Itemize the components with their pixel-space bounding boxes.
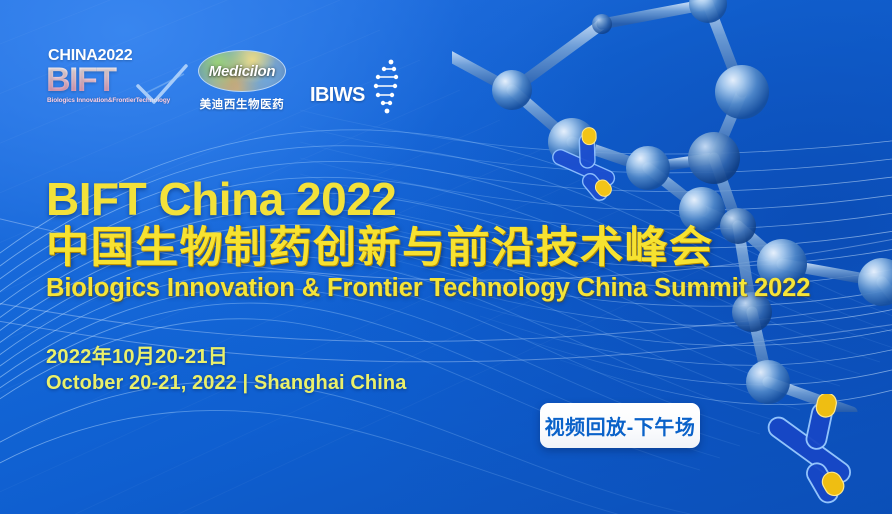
page-title-chinese: 中国生物制药创新与前沿技术峰会: [46, 225, 810, 271]
medicilon-logo[interactable]: Medicilon 美迪西生物医药: [196, 48, 288, 112]
page-title: BIFT China 2022: [46, 176, 810, 223]
antibody-graphic: [742, 394, 888, 514]
page-subtitle: Biologics Innovation & Frontier Technolo…: [46, 274, 810, 302]
sponsor-logo-row: CHINA2022 BIFT Biologics Innovation&Fron…: [46, 48, 401, 118]
video-replay-button-label: 视频回放-下午场: [545, 411, 696, 440]
swoosh-checkmark-icon: [134, 64, 190, 110]
medicilon-logo-chinese-name: 美迪西生物医药: [196, 96, 288, 112]
bift-logo[interactable]: CHINA2022 BIFT Biologics Innovation&Fron…: [46, 48, 174, 104]
event-banner: CHINA2022 BIFT Biologics Innovation&Fron…: [0, 0, 892, 514]
event-date-chinese: 2022年10月20-21日: [46, 345, 406, 371]
ibiws-logo-wordmark: IBIWS: [310, 84, 365, 107]
headline-block: BIFT China 2022 中国生物制药创新与前沿技术峰会 Biologic…: [46, 176, 810, 302]
event-details: 2022年10月20-21日 October 20-21, 2022 | Sha…: [46, 345, 406, 396]
video-replay-button[interactable]: 视频回放-下午场: [540, 403, 700, 448]
dna-helix-icon: [367, 58, 401, 118]
oval-emblem-icon: Medicilon: [198, 50, 286, 92]
event-date-english: October 20-21, 2022 | Shanghai China: [46, 371, 406, 397]
ibiws-logo[interactable]: IBIWS: [310, 72, 401, 118]
medicilon-logo-wordmark: Medicilon: [199, 51, 285, 91]
